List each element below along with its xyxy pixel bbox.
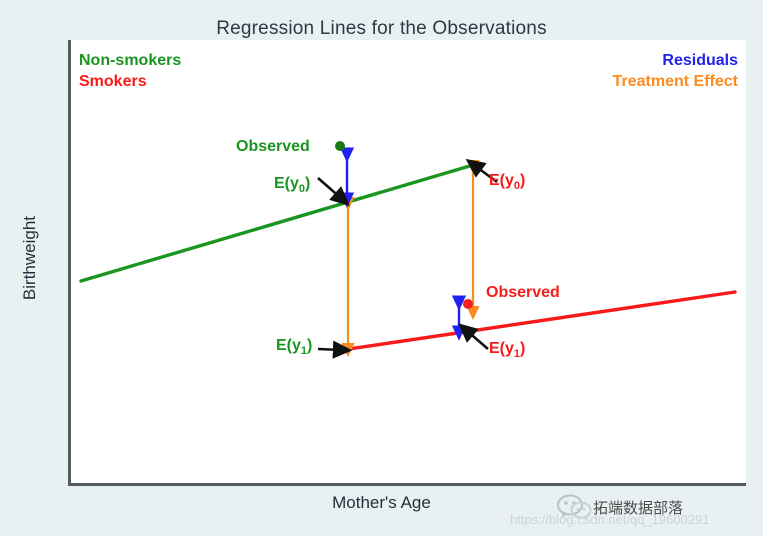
label-ey0-expected-non-smoker: E(y0) [274, 175, 310, 195]
label-ey1-left-close: ) [307, 337, 312, 354]
label-ey0-right-close: ) [520, 172, 525, 189]
label-ey0-right-text: E(y [489, 172, 514, 189]
observed-point-smoker [463, 299, 473, 309]
watermark-url: https://blog.csdn.net/qq_19600291 [510, 512, 710, 527]
y-axis-title: Birthweight [20, 198, 40, 318]
chart-graphics [0, 0, 763, 536]
pointer-arrow-ey1-left [318, 349, 342, 350]
observed-point-non-smoker [335, 141, 345, 151]
label-ey1-right-text: E(y [489, 340, 514, 357]
label-observed-non-smoker: Observed [236, 138, 310, 156]
label-ey1-left-text: E(y [276, 337, 301, 354]
label-ey1-right-close: ) [520, 340, 525, 357]
label-ey1-counterfactual: E(y1) [276, 337, 312, 357]
label-ey0-left-close: ) [305, 175, 310, 192]
pointer-arrow-ey1-right [466, 330, 488, 349]
chart-root: Regression Lines for the Observations No… [0, 0, 763, 536]
pointer-arrow-ey0-left [318, 178, 342, 199]
label-ey0-left-text: E(y [274, 175, 299, 192]
label-observed-smoker: Observed [486, 284, 560, 302]
label-ey0-counterfactual: E(y0) [489, 172, 525, 192]
label-ey1-expected-smoker: E(y1) [489, 340, 525, 360]
